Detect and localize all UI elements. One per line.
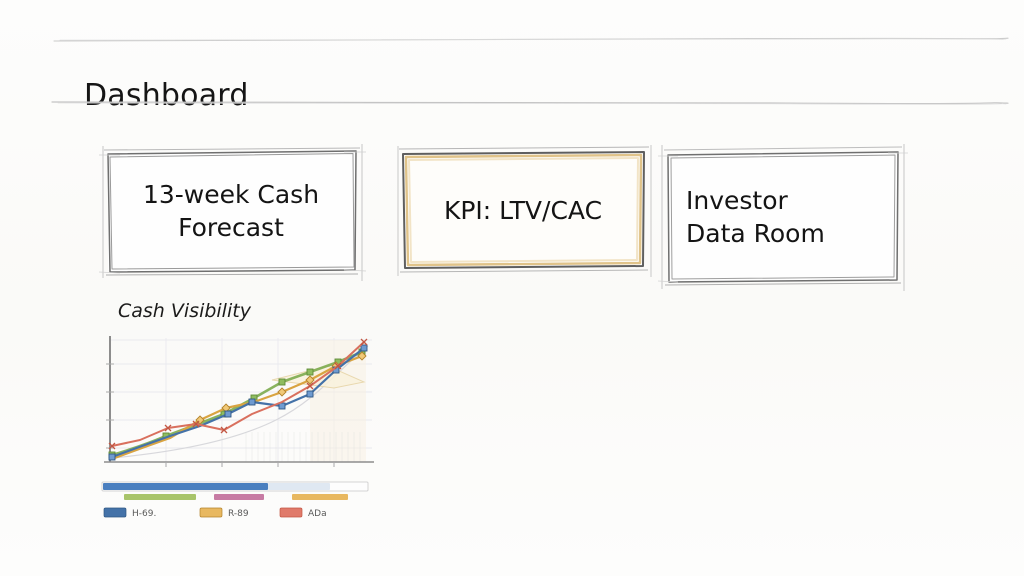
legend-label-0: H-69. bbox=[132, 509, 156, 519]
card-label-line1: Investor bbox=[686, 186, 788, 215]
card-label: Investor Data Room bbox=[668, 184, 896, 250]
card-label: 13-week Cash Forecast bbox=[108, 178, 354, 244]
card-label-line1: 13-week Cash bbox=[143, 180, 319, 209]
legend-label-2: ADa bbox=[308, 509, 327, 519]
legend-item-0[interactable]: H-69. bbox=[104, 508, 156, 519]
legend-item-1[interactable]: R-89 bbox=[200, 508, 249, 519]
card-label-line2: Forecast bbox=[178, 213, 284, 242]
progress-bar-amber[interactable] bbox=[292, 494, 348, 500]
legend-label-1: R-89 bbox=[228, 509, 249, 519]
header-rule-top bbox=[50, 35, 1010, 45]
card-13-week-cash-forecast[interactable]: 13-week Cash Forecast bbox=[108, 152, 354, 270]
progress-bar-primary[interactable] bbox=[102, 482, 368, 491]
card-label-line2: Data Room bbox=[686, 219, 825, 248]
dashboard-canvas: Dashboard 13-week bbox=[0, 0, 1024, 576]
card-kpi-ltv-cac[interactable]: KPI: LTV/CAC bbox=[404, 154, 642, 266]
progress-bar-pink[interactable] bbox=[214, 494, 264, 500]
card-label-line1: KPI: LTV/CAC bbox=[444, 196, 602, 225]
page-header: Dashboard bbox=[0, 30, 1024, 110]
card-investor-data-room[interactable]: Investor Data Room bbox=[668, 154, 896, 280]
header-rule-bottom bbox=[50, 98, 1010, 108]
chart-title: Cash Visibility bbox=[118, 300, 251, 322]
cash-visibility-chart-block: Cash Visibility bbox=[0, 296, 420, 556]
chart-plot-area bbox=[96, 336, 376, 481]
card-label: KPI: LTV/CAC bbox=[404, 194, 642, 227]
chart-legend-area: H-69. R-89 ADa bbox=[96, 480, 376, 540]
card-row: 13-week Cash Forecast KPI: LTV/CAC bbox=[0, 140, 1024, 300]
progress-bar-green[interactable] bbox=[124, 494, 196, 500]
legend-item-2[interactable]: ADa bbox=[280, 508, 327, 519]
